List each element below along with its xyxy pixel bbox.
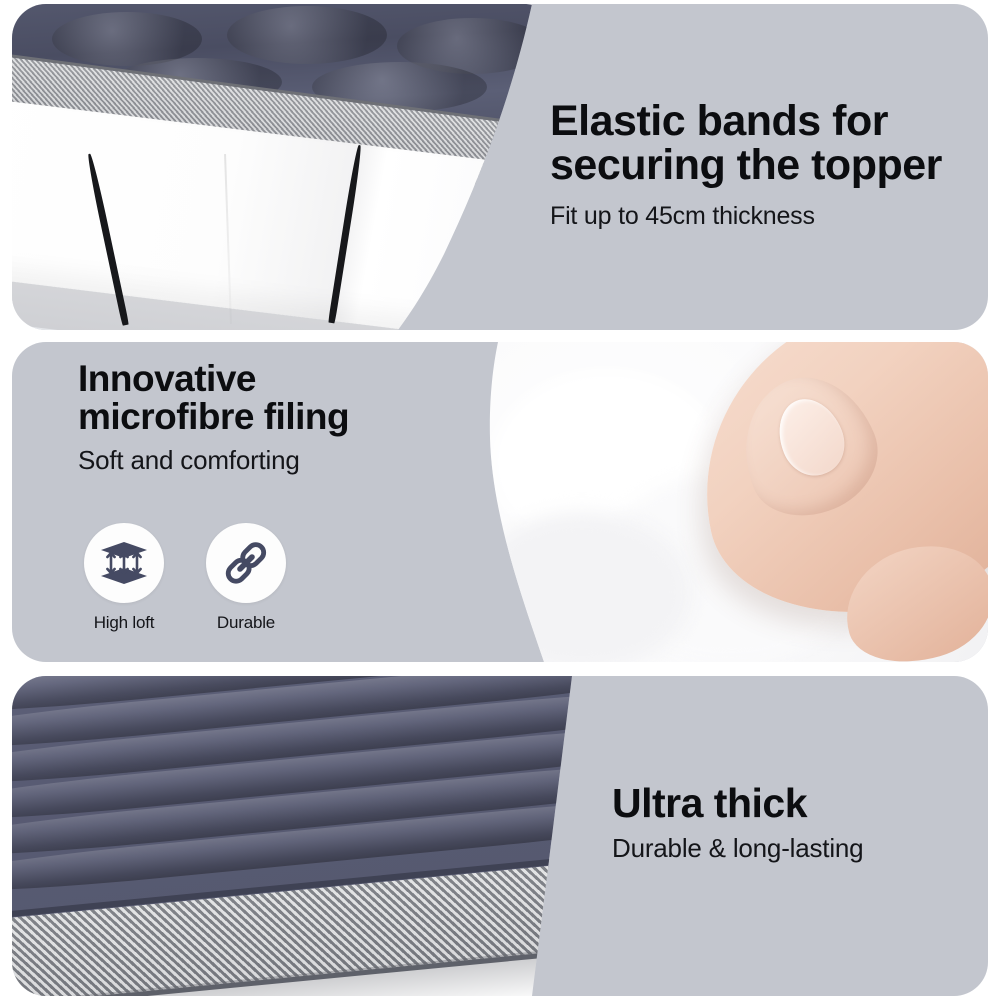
panel-3-headline-line-1: Ultra thick xyxy=(612,783,988,825)
quilt-tuft xyxy=(227,6,387,64)
high-loft-icon xyxy=(98,537,150,589)
panel-2-subline: Soft and comforting xyxy=(78,445,478,476)
durable-badge xyxy=(206,523,286,603)
panel-elastic-bands: Elastic bands for securing the topper Fi… xyxy=(12,4,988,330)
infographic-board: Elastic bands for securing the topper Fi… xyxy=(0,0,1000,1000)
feature-durable-label: Durable xyxy=(217,613,275,633)
panel-2-headline-line-2: microfibre filing xyxy=(78,398,478,436)
panel-1-headline-line-2: securing the topper xyxy=(550,144,980,188)
panel-2-text-block: Innovative microfibre filing Soft and co… xyxy=(78,360,478,476)
panel-microfibre-filling: Innovative microfibre filing Soft and co… xyxy=(12,342,988,662)
panel-3-subline: Durable & long-lasting xyxy=(612,833,988,864)
panel-2-headline: Innovative microfibre filing xyxy=(78,360,478,435)
panel-3-text-block: Ultra thick Durable & long-lasting xyxy=(612,783,988,864)
high-loft-badge xyxy=(84,523,164,603)
panel-1-headline-line-1: Elastic bands for xyxy=(550,100,980,144)
feature-badge-list: High loft Durable xyxy=(78,523,292,633)
feature-high-loft-label: High loft xyxy=(94,613,155,633)
feature-high-loft[interactable]: High loft xyxy=(78,523,170,633)
fibre-cluster xyxy=(472,512,692,662)
panel-2-headline-line-1: Innovative xyxy=(78,360,478,398)
panel-1-text-block: Elastic bands for securing the topper Fi… xyxy=(550,100,980,231)
chain-link-icon xyxy=(221,538,271,588)
panel-1-headline: Elastic bands for securing the topper xyxy=(550,100,980,188)
photo-hand-on-microfibre-filling xyxy=(452,342,988,662)
feature-durable[interactable]: Durable xyxy=(200,523,292,633)
photo-quilted-topper-closeup xyxy=(12,676,612,996)
panel-1-subline: Fit up to 45cm thickness xyxy=(550,202,980,231)
panel-3-headline: Ultra thick xyxy=(612,783,988,825)
photo-topper-corner-elastic-straps xyxy=(12,4,572,330)
panel-ultra-thick: Ultra thick Durable & long-lasting xyxy=(12,676,988,996)
